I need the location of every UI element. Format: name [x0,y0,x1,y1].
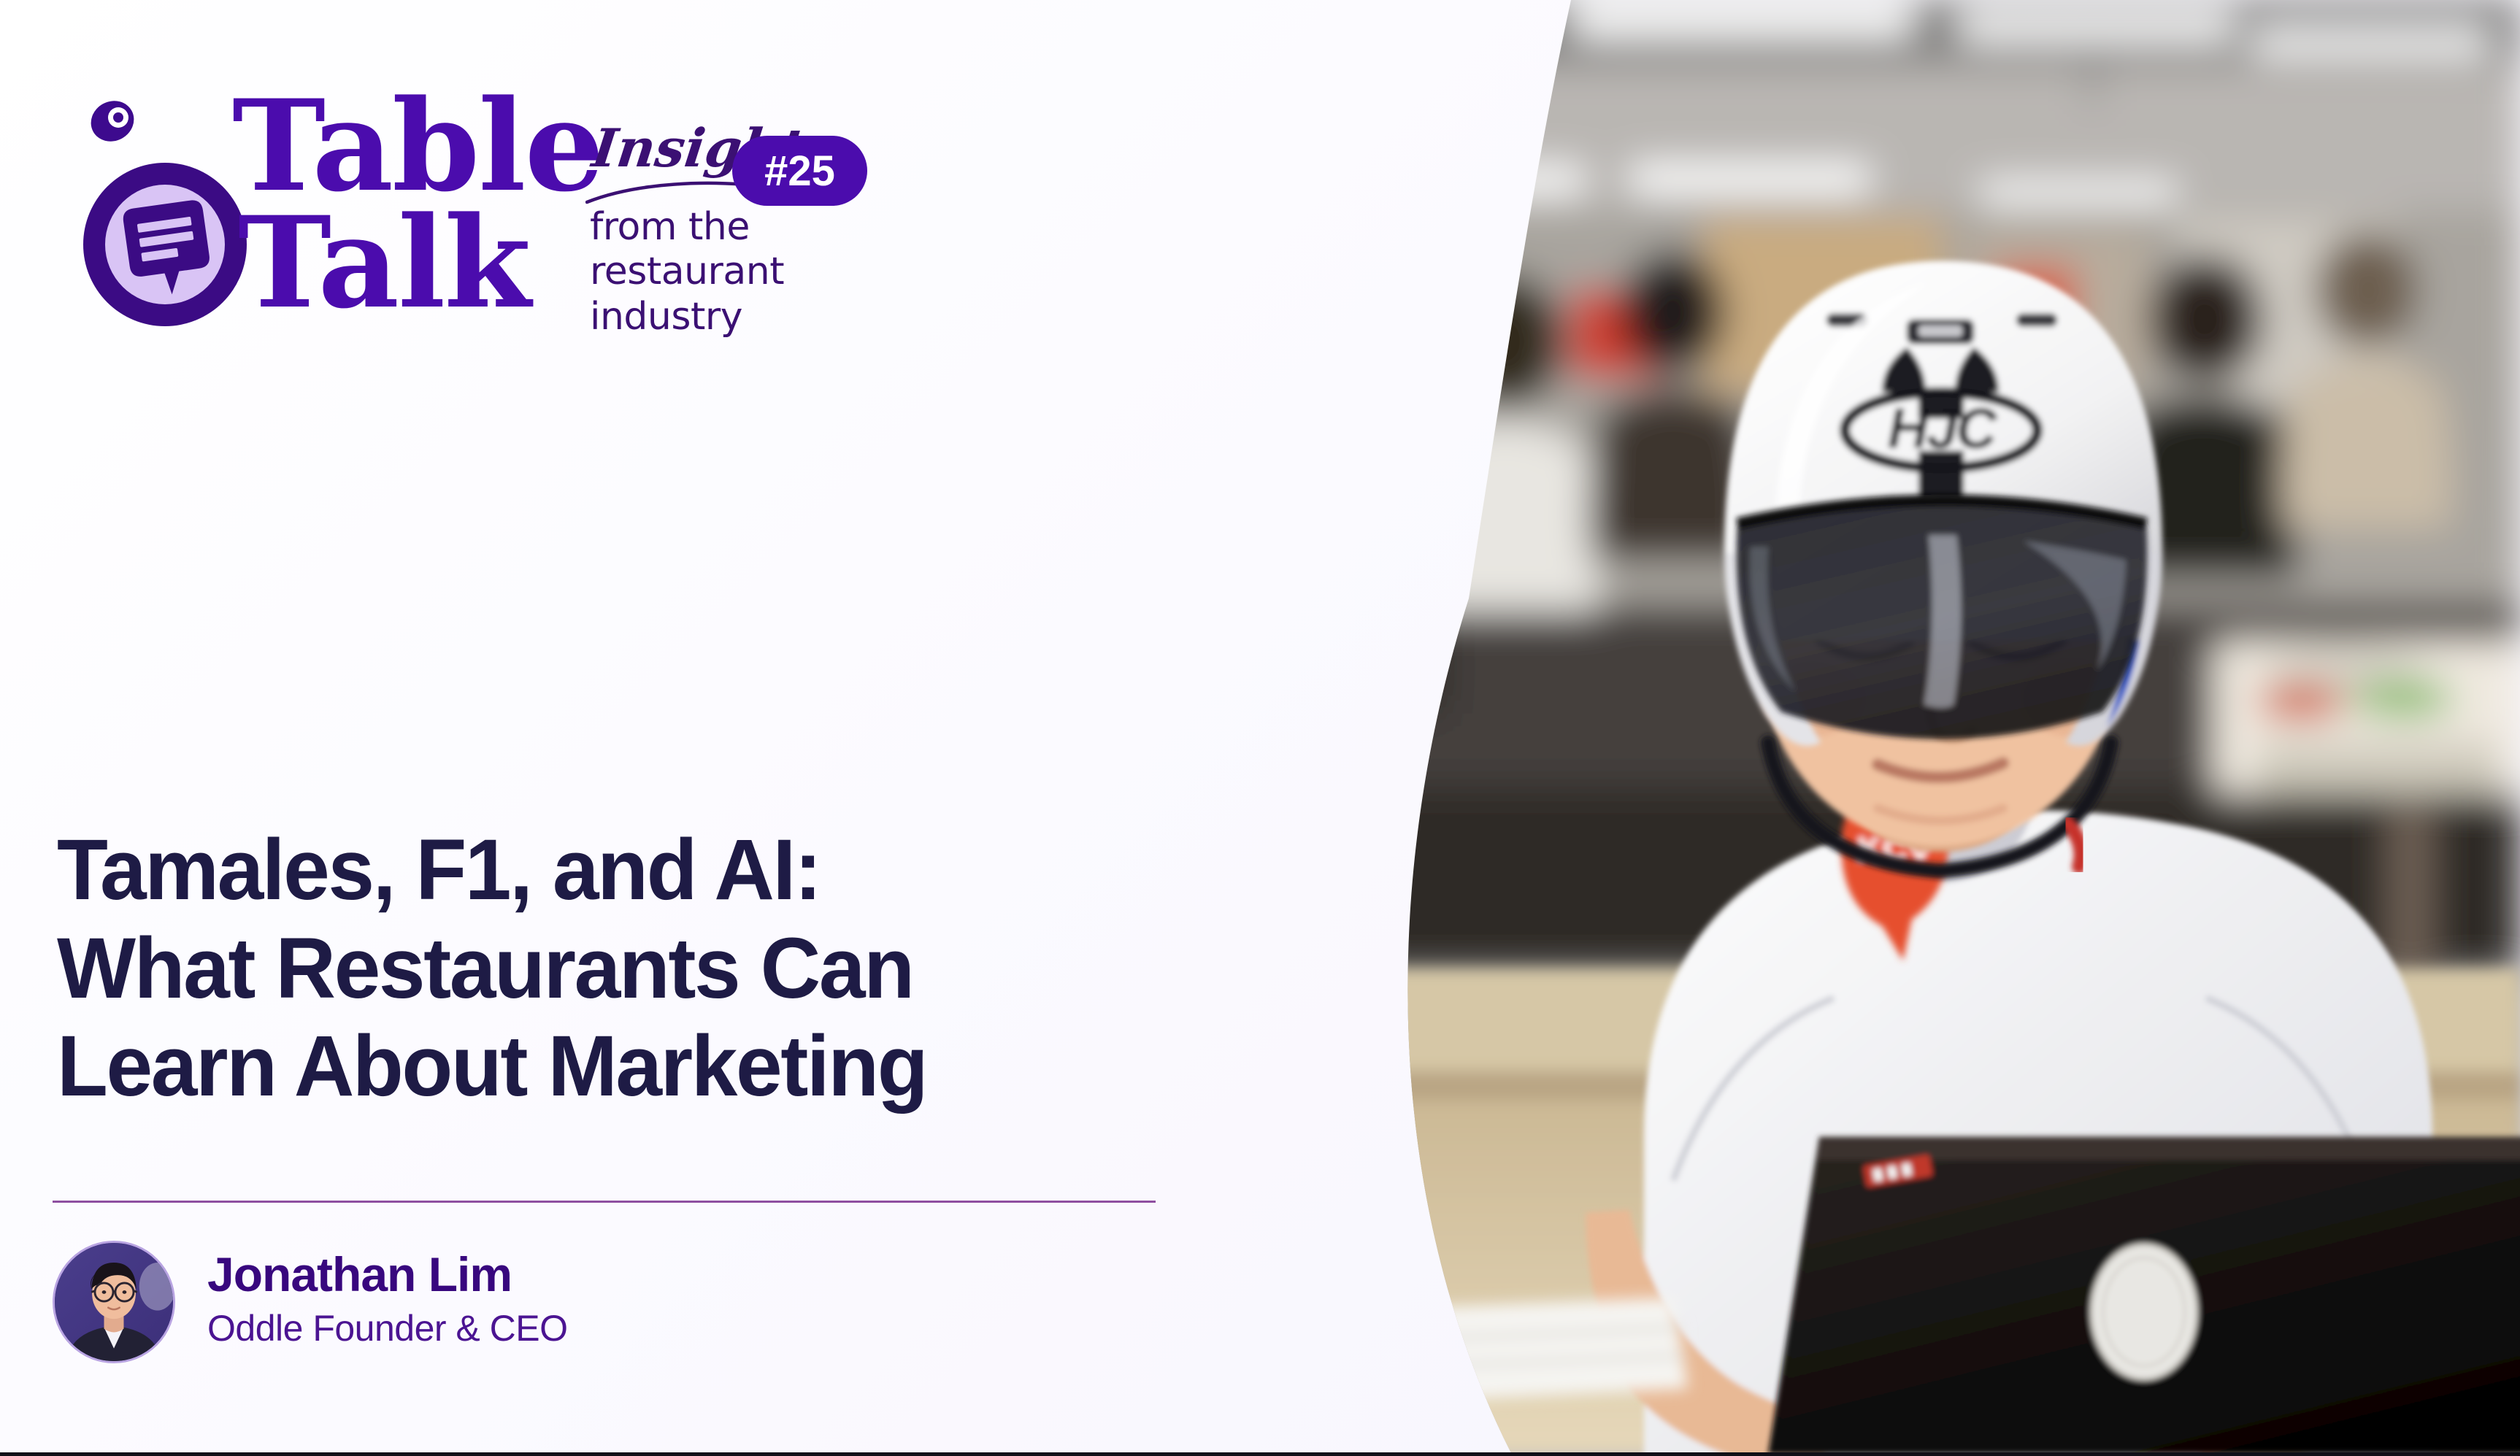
helmet-visor [1737,501,2148,739]
avatar [53,1241,175,1363]
headline-line-3: Learn About Marketing [57,1017,1119,1116]
headline-line-1: Tamales, F1, and AI: [57,821,1119,920]
left-content-panel: Table Talk Insights from the restaurant … [0,0,1241,1452]
episode-photo: KCV [1162,0,2520,1452]
page-title: Tamales, F1, and AI: What Restaurants Ca… [57,821,1119,1116]
wordmark-line-1: Table [232,88,603,204]
speaker-block: Jonathan Lim Oddle Founder & CEO [53,1241,856,1379]
laptop [1768,1137,2520,1453]
speaker-name: Jonathan Lim [207,1248,568,1301]
speaker-role: Oddle Founder & CEO [207,1309,568,1349]
location-pin-dot-icon [84,95,141,149]
episode-number-badge[interactable]: #25 [732,136,867,206]
podcast-title-slide: Table Talk Insights from the restaurant … [0,0,2520,1456]
speaker-details: Jonathan Lim Oddle Founder & CEO [207,1248,568,1349]
napkin-stack [1308,1298,1688,1407]
brand-logo-lockup[interactable]: Table Talk Insights from the restaurant … [79,95,918,336]
svg-text:HJC: HJC [1887,396,1998,461]
headline-line-2: What Restaurants Can [57,920,1119,1018]
episode-number-label: #25 [764,147,835,196]
tagline-subtext: from the restaurant industry [590,205,794,339]
section-divider [53,1201,1156,1203]
brand-wordmark: Table Talk [232,88,603,321]
wordmark-line-2: Talk [232,204,603,321]
